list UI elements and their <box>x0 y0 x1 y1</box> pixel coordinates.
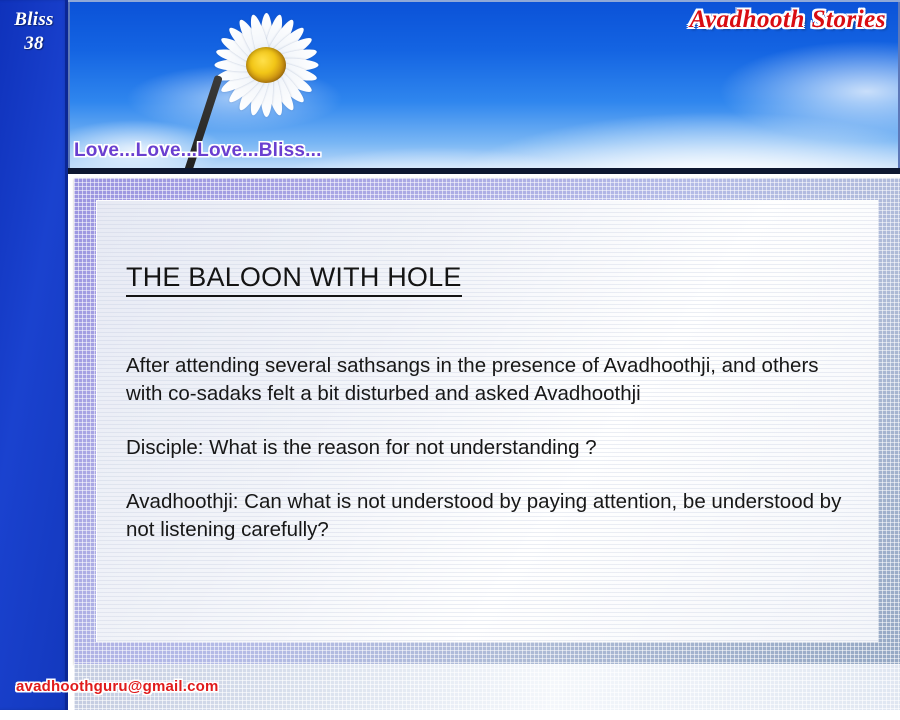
bliss-word: Bliss <box>14 9 54 30</box>
bliss-series-label: Bliss 38 <box>0 8 68 56</box>
body-paragraph-3: Avadhoothji: Can what is not understood … <box>126 488 854 544</box>
header-banner-image: Avadhooth Stories Love...Love...Love...B… <box>68 0 900 174</box>
bliss-number: 38 <box>0 32 68 56</box>
header-title: Avadhooth Stories <box>690 6 886 34</box>
slide-heading: THE BALOON WITH HOLE <box>126 262 462 297</box>
content-panel-inner: THE BALOON WITH HOLE After attending sev… <box>96 200 878 642</box>
left-sidebar: Bliss 38 <box>0 0 68 710</box>
daisy-flower-icon <box>196 10 336 120</box>
header-tagline: Love...Love...Love...Bliss... <box>74 140 322 162</box>
header-bottom-rule <box>68 168 900 174</box>
bottom-white-strip <box>0 710 900 720</box>
body-paragraph-2: Disciple: What is the reason for not und… <box>126 434 854 462</box>
body-paragraph-1: After attending several sathsangs in the… <box>126 352 854 408</box>
slide-body: After attending several sathsangs in the… <box>126 352 854 544</box>
content-panel-frame: THE BALOON WITH HOLE After attending sev… <box>74 178 900 664</box>
footer-email-link[interactable]: avadhoothguru@gmail.com <box>16 678 219 695</box>
slide-canvas: Bliss 38 <box>0 0 900 720</box>
daisy-center <box>246 47 286 83</box>
